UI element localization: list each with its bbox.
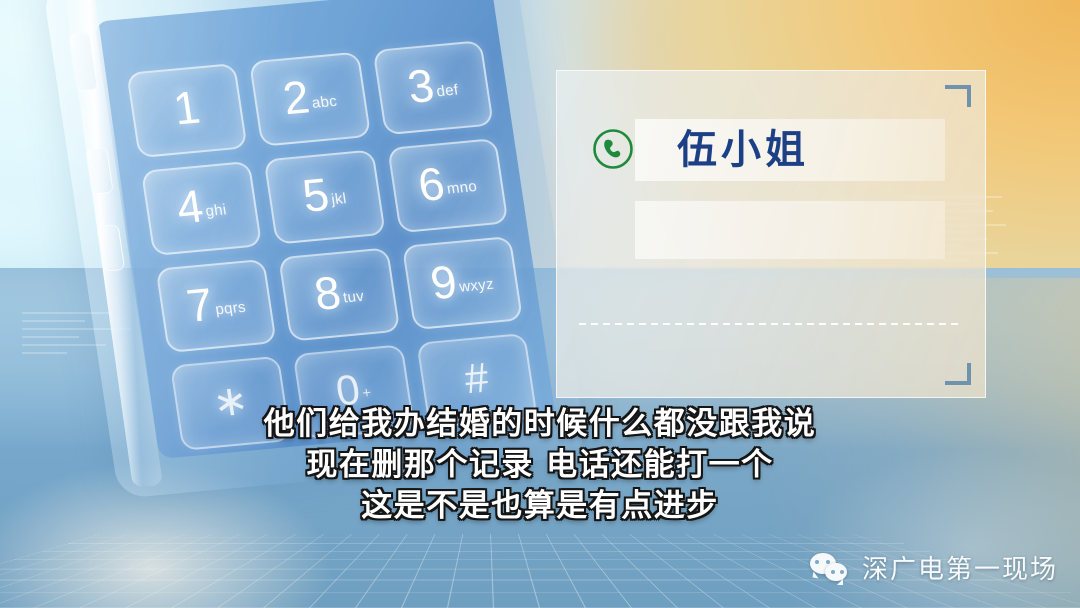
dialpad-key-digit: 7 <box>184 282 216 328</box>
audio-waveform <box>579 275 963 371</box>
dialpad-key-1[interactable]: 1 <box>126 63 248 158</box>
dialpad-key-digit: # <box>462 358 491 400</box>
broadcast-stage: 12abc3def4ghi5jkl6mno7pqrs8tuv9wxyz∗0+# … <box>0 0 1080 608</box>
corner-bracket-top-right-icon <box>945 85 971 107</box>
dialpad[interactable]: 12abc3def4ghi5jkl6mno7pqrs8tuv9wxyz∗0+# <box>126 40 537 451</box>
dialpad-key-6[interactable]: 6mno <box>387 138 509 233</box>
dialpad-key-7[interactable]: 7pqrs <box>155 258 277 353</box>
dialpad-key-digit: 5 <box>300 173 332 219</box>
channel-watermark: 深广电第一现场 <box>810 549 1058 586</box>
dialpad-key-letters: abc <box>311 92 340 118</box>
dialpad-key-letters: + <box>361 384 374 409</box>
phone-handset-circle-icon <box>591 127 635 171</box>
dialpad-key-5[interactable]: 5jkl <box>264 149 386 244</box>
dialpad-key-0[interactable]: 0+ <box>293 345 415 440</box>
dialpad-key-#[interactable]: # <box>416 333 538 428</box>
dialpad-key-∗[interactable]: ∗ <box>170 356 292 451</box>
dialpad-key-digit: 0 <box>333 370 362 412</box>
dialpad-key-digit: 6 <box>415 162 447 208</box>
dialpad-key-8[interactable]: 8tuv <box>278 247 400 342</box>
wechat-icon <box>810 553 850 583</box>
dialpad-key-letters: tuv <box>342 288 366 314</box>
phone-screen: 12abc3def4ghi5jkl6mno7pqrs8tuv9wxyz∗0+# <box>94 0 556 459</box>
phone-graphic: 12abc3def4ghi5jkl6mno7pqrs8tuv9wxyz∗0+# <box>42 0 588 499</box>
channel-name: 深广电第一现场 <box>862 549 1058 586</box>
dialpad-key-letters: pqrs <box>214 299 248 326</box>
dialpad-key-letters: mno <box>446 178 480 205</box>
dialpad-key-digit: 4 <box>174 184 206 230</box>
dialpad-key-letters: def <box>435 81 460 107</box>
caller-info-panel: 伍小姐 <box>556 70 986 398</box>
dialpad-key-digit: ∗ <box>210 380 251 423</box>
dialpad-key-digit: 1 <box>171 86 203 132</box>
caller-detail-plate <box>635 201 945 259</box>
caller-name: 伍小姐 <box>635 130 809 170</box>
dialpad-key-digit: 9 <box>428 260 460 306</box>
dialpad-key-letters: wxyz <box>458 276 496 303</box>
dialpad-key-9[interactable]: 9wxyz <box>401 235 523 330</box>
dialpad-key-4[interactable]: 4ghi <box>141 161 263 256</box>
dialpad-key-2[interactable]: 2abc <box>249 52 371 147</box>
dialpad-key-3[interactable]: 3def <box>372 40 494 135</box>
dialpad-key-digit: 3 <box>405 64 437 110</box>
dialpad-key-digit: 8 <box>312 271 344 317</box>
dialpad-key-letters: jkl <box>330 191 349 216</box>
caller-name-plate: 伍小姐 <box>635 119 945 181</box>
dialpad-key-letters: ghi <box>204 202 228 228</box>
waveform-center-line <box>579 323 963 325</box>
dialpad-key-digit: 2 <box>280 75 312 121</box>
